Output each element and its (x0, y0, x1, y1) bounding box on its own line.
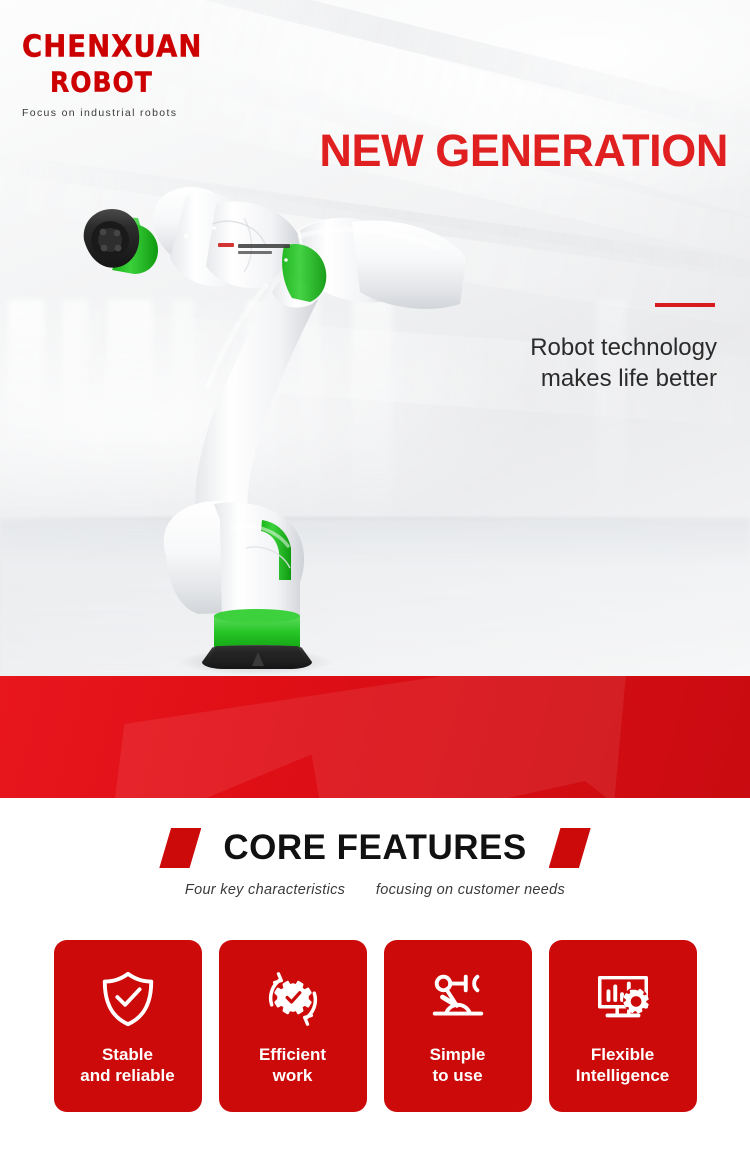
tagline-line-1: Robot technology (530, 333, 717, 364)
hero-headline: NEW GENERATION (319, 128, 728, 173)
tagline-line-2: makes life better (530, 364, 717, 395)
feature-card-efficient-work[interactable]: Efficient work (219, 940, 367, 1112)
features-subtitle: Four key characteristics focusing on cus… (0, 882, 750, 898)
gear-refresh-icon (261, 967, 325, 1031)
core-features-section: CORE FEATURES Four key characteristics f… (0, 798, 750, 1112)
banner-decorative-shape (110, 676, 750, 798)
features-subtitle-part-1: Four key characteristics (185, 882, 345, 898)
feature-card-label: Simple to use (430, 1045, 486, 1086)
logo-text-secondary: ROBOT (50, 68, 222, 96)
feature-card-simple-to-use[interactable]: Simple to use (384, 940, 532, 1112)
red-divider-banner (0, 676, 750, 798)
card-label-line-2: Intelligence (576, 1066, 670, 1087)
feature-card-label: Efficient work (259, 1045, 326, 1086)
hero-tagline: Robot technology makes life better (530, 333, 717, 394)
card-label-line-1: Flexible (576, 1045, 670, 1066)
card-label-line-1: Simple (430, 1045, 486, 1066)
card-label-line-1: Efficient (259, 1045, 326, 1066)
features-title: CORE FEATURES (223, 828, 526, 868)
parallelogram-accent-left-icon (159, 828, 201, 868)
hero-section: CHENXUAN ROBOT Focus on industrial robot… (0, 0, 750, 676)
card-label-line-2: and reliable (80, 1066, 174, 1087)
logo-text-primary: CHENXUAN (22, 32, 226, 62)
monitor-chart-gear-icon (591, 967, 655, 1031)
feature-card-label: Flexible Intelligence (576, 1045, 670, 1086)
card-label-line-2: to use (430, 1066, 486, 1087)
robot-arm-icon (426, 967, 490, 1031)
floor-surface (0, 520, 750, 676)
feature-card-stable-and-reliable[interactable]: Stable and reliable (54, 940, 202, 1112)
tagline-accent-bar (655, 303, 715, 307)
robot-arm-product-label (218, 243, 290, 254)
feature-cards-row: Stable and reliable Efficient work (0, 940, 750, 1112)
features-subtitle-part-2: focusing on customer needs (376, 882, 565, 898)
feature-card-flexible-intelligence[interactable]: Flexible Intelligence (549, 940, 697, 1112)
shield-check-icon (96, 967, 160, 1031)
parallelogram-accent-right-icon (549, 828, 591, 868)
brand-slogan: Focus on industrial robots (22, 107, 222, 119)
card-label-line-1: Stable (80, 1045, 174, 1066)
features-heading-row: CORE FEATURES (0, 828, 750, 868)
brand-logo[interactable]: CHENXUAN ROBOT Focus on industrial robot… (22, 32, 222, 119)
card-label-line-2: work (259, 1066, 326, 1087)
feature-card-label: Stable and reliable (80, 1045, 174, 1086)
